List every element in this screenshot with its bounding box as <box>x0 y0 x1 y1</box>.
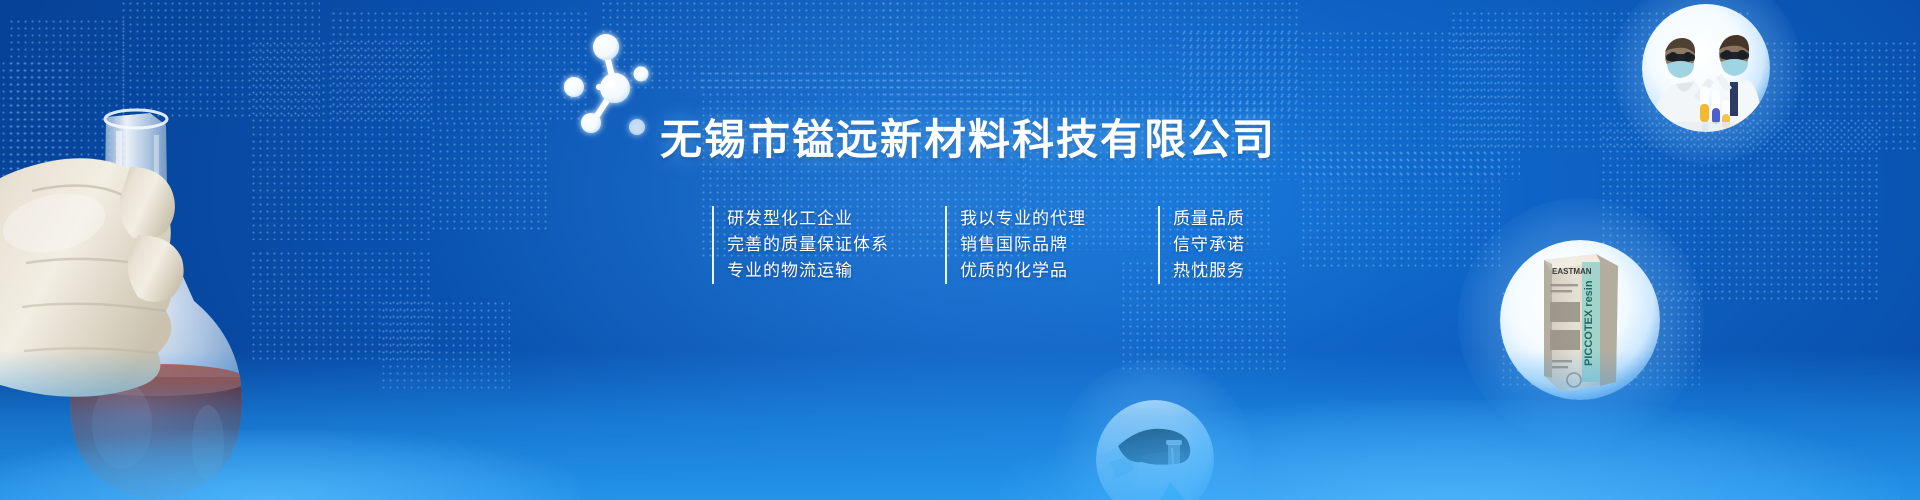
horizon-ridge-left <box>0 430 580 500</box>
scientists-image <box>1642 4 1770 132</box>
horizon-ridge-right <box>1000 400 1900 500</box>
slogan-line: 优质的化学品 <box>960 258 1112 284</box>
slogan-column-rnd: 研发型化工企业 完善的质量保证体系 专业的物流运输 <box>712 206 899 284</box>
svg-text:EASTMAN: EASTMAN <box>1552 267 1592 276</box>
company-title: 无锡市镒远新材料科技有限公司 <box>660 119 1276 161</box>
slogan-line: 热忱服务 <box>1173 258 1273 284</box>
slogan-line: 完善的质量保证体系 <box>727 232 899 258</box>
slogan-line: 专业的物流运输 <box>727 258 899 284</box>
slogan-line: 研发型化工企业 <box>727 206 899 232</box>
slogan-line: 质量品质 <box>1173 206 1273 232</box>
slogan-line: 我以专业的代理 <box>960 206 1112 232</box>
slogan-line: 信守承诺 <box>1173 232 1273 258</box>
slogan-column-agency: 我以专业的代理 销售国际品牌 优质的化学品 <box>945 206 1112 284</box>
slogan-columns: 研发型化工企业 完善的质量保证体系 专业的物流运输 我以专业的代理 销售国际品牌… <box>712 206 1273 284</box>
company-banner: 无锡市镒远新材料科技有限公司 研发型化工企业 完善的质量保证体系 专业的物流运输… <box>0 0 1920 500</box>
slogan-line: 销售国际品牌 <box>960 232 1112 258</box>
slogan-column-service: 质量品质 信守承诺 热忱服务 <box>1158 206 1273 284</box>
photo-scientists <box>1642 4 1770 132</box>
